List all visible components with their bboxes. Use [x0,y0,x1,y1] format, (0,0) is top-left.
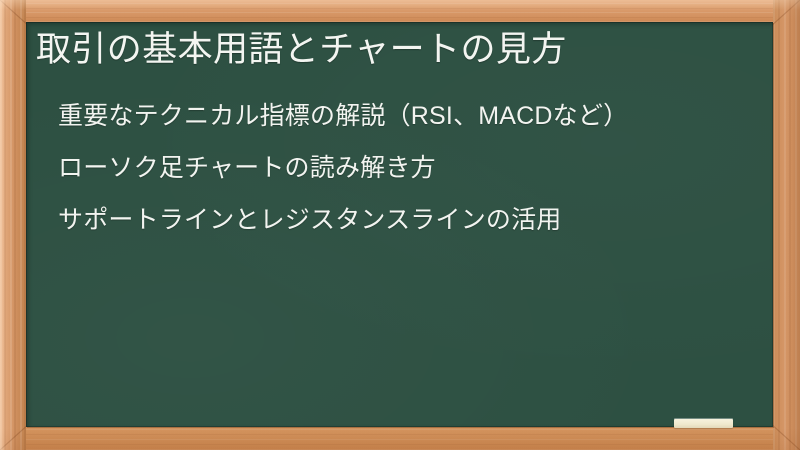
chalkboard-surface: 取引の基本用語とチャートの見方 重要なテクニカル指標の解説（RSI、MACDなど… [26,22,773,427]
bullet-list: 重要なテクニカル指標の解説（RSI、MACDなど） ローソク足チャートの読み解き… [58,104,768,233]
frame-rail-bottom [0,427,800,450]
frame-rail-right [773,0,800,450]
list-item: ローソク足チャートの読み解き方 [58,156,768,181]
chalk-stick-icon [674,419,733,428]
frame-rail-top [0,0,800,22]
frame-rail-left [0,0,26,450]
slide-content: 取引の基本用語とチャートの見方 重要なテクニカル指標の解説（RSI、MACDなど… [26,22,773,427]
chalkboard-slide: 取引の基本用語とチャートの見方 重要なテクニカル指標の解説（RSI、MACDなど… [0,0,800,450]
page-title: 取引の基本用語とチャートの見方 [36,28,756,72]
list-item: サポートラインとレジスタンスラインの活用 [58,208,768,233]
list-item: 重要なテクニカル指標の解説（RSI、MACDなど） [58,104,768,129]
